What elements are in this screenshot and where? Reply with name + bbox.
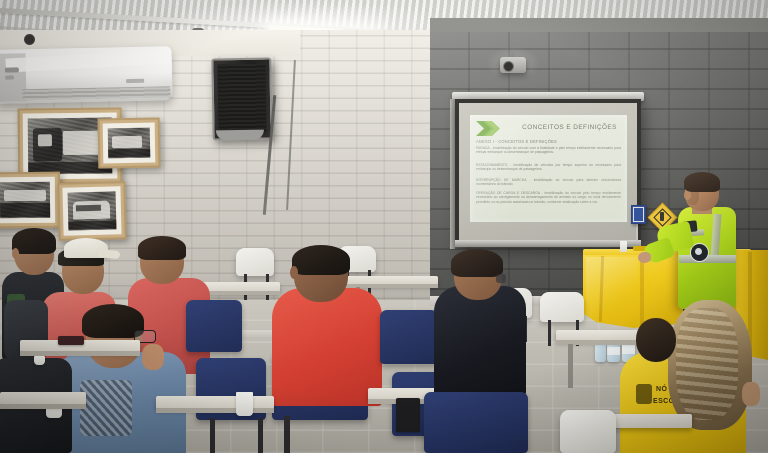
- photo-ground: [108, 149, 150, 158]
- student-navy-shirt-hair: [451, 249, 503, 277]
- photo-image: [108, 128, 151, 159]
- photo-image: [68, 191, 117, 230]
- speaker-bracket: [216, 130, 264, 141]
- photo-tram-body: [112, 136, 142, 149]
- desk-edge: [0, 404, 86, 409]
- hair-strand-texture: [676, 308, 738, 420]
- traffic-sign-blue-pole: [636, 221, 638, 241]
- framed-photo-old-bus-2: [98, 117, 161, 168]
- white-chair-back-1: [236, 248, 274, 276]
- student-black-shirt-ear: [12, 248, 19, 259]
- tablecloth-fold: [640, 256, 644, 326]
- slide-glare: [470, 115, 627, 222]
- air-conditioner-brand-mark: [126, 79, 144, 83]
- photo-image: [0, 182, 50, 218]
- chair-leg: [258, 418, 263, 453]
- classroom-photo: CONCEITOS E DEFINIÇÕES ANEXO I - CONCEIT…: [0, 0, 768, 453]
- tablecloth-highlight: [586, 257, 638, 317]
- student-red-shirt-2-hair: [292, 245, 350, 275]
- water-bottle-label-1: [607, 347, 620, 355]
- air-conditioner-vent: [22, 86, 170, 100]
- speaker: [211, 57, 272, 140]
- white-chair-front-right: [560, 410, 616, 453]
- white-chair-right-2: [540, 292, 584, 322]
- wall-top-trim: [430, 18, 768, 32]
- speaker-driver-icon: [24, 34, 35, 45]
- student-glasses-hand: [142, 344, 164, 370]
- chair-leg: [284, 416, 290, 453]
- student-yellow-shirt-head-shadow: [636, 318, 676, 362]
- framed-photo-old-bus-3: [0, 172, 60, 229]
- chair-leg: [210, 418, 215, 453]
- desk-edge: [156, 408, 274, 413]
- presenter-hand: [638, 252, 651, 263]
- cup-center: [236, 392, 253, 416]
- water-bottle-label-2: [622, 345, 635, 354]
- chair-mid-left: [186, 300, 242, 352]
- student-glasses-shirt-pattern: [80, 380, 132, 436]
- air-conditioner-indicator: [5, 75, 14, 79]
- student-navy-glasses-icon: [496, 274, 506, 283]
- projected-slide: CONCEITOS E DEFINIÇÕES ANEXO I - CONCEIT…: [470, 115, 627, 222]
- photo-bus-window: [38, 134, 52, 146]
- air-conditioner: [0, 46, 173, 104]
- student-red-shirt-2-torso: [272, 288, 382, 406]
- chair-mid-right: [380, 310, 438, 364]
- chair-leg: [548, 320, 551, 346]
- traffic-sign-blue-symbol-icon: [633, 207, 644, 222]
- projection-screen-bottom-bar: [455, 240, 641, 247]
- table-cup-1: [620, 241, 627, 252]
- chair-navy-student: [424, 392, 528, 453]
- photo-ground: [68, 220, 116, 230]
- photo-bus-windows: [76, 205, 101, 212]
- air-conditioner-highlight: [5, 49, 172, 72]
- shirt-print-mark-icon: [636, 384, 652, 404]
- student-red-shirt-2-ear: [290, 266, 298, 279]
- phone-on-desk: [58, 336, 84, 345]
- student-red-shirt-1-hair: [138, 236, 186, 260]
- photo-ground: [0, 203, 50, 218]
- air-conditioner-display: [5, 67, 19, 72]
- desk-leg: [568, 344, 573, 388]
- traffic-light-icon: [660, 212, 664, 221]
- photo-bus-body: [4, 190, 46, 201]
- speaker-grill: [217, 64, 266, 135]
- presenter-hair: [684, 172, 720, 192]
- student-navy-shirt-torso: [434, 286, 526, 396]
- phone-on-desk-right: [396, 398, 420, 432]
- round-badge-center: [695, 248, 702, 255]
- framed-photo-old-bus-4: [57, 181, 126, 241]
- student-yellow-shirt-arm: [742, 382, 760, 406]
- projector-lens-icon: [503, 61, 514, 72]
- cup-small: [34, 356, 45, 365]
